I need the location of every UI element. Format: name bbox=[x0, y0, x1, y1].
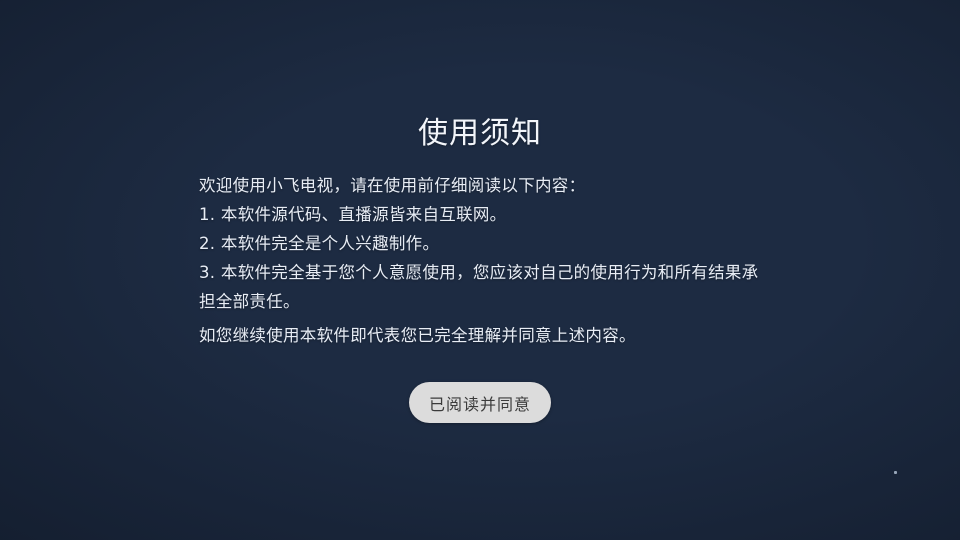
notice-paragraph-2: 2. 本软件完全是个人兴趣制作。 bbox=[199, 229, 759, 258]
notice-dialog: 使用须知 欢迎使用小飞电视，请在使用前仔细阅读以下内容： 1. 本软件源代码、直… bbox=[0, 0, 960, 540]
page-title: 使用须知 bbox=[0, 116, 960, 152]
notice-paragraph-closing: 如您继续使用本软件即代表您已完全理解并同意上述内容。 bbox=[199, 321, 759, 350]
notice-paragraph-1: 1. 本软件源代码、直播源皆来自互联网。 bbox=[199, 200, 759, 229]
notice-body: 欢迎使用小飞电视，请在使用前仔细阅读以下内容： 1. 本软件源代码、直播源皆来自… bbox=[199, 171, 759, 350]
cursor-dot bbox=[894, 471, 897, 474]
app-screen: 使用须知 欢迎使用小飞电视，请在使用前仔细阅读以下内容： 1. 本软件源代码、直… bbox=[0, 0, 960, 540]
notice-paragraph-3: 3. 本软件完全基于您个人意愿使用，您应该对自己的使用行为和所有结果承担全部责任… bbox=[199, 258, 759, 316]
action-bar: 已阅读并同意 bbox=[0, 382, 960, 423]
agree-button[interactable]: 已阅读并同意 bbox=[409, 382, 551, 423]
notice-paragraph-intro: 欢迎使用小飞电视，请在使用前仔细阅读以下内容： bbox=[199, 171, 759, 200]
